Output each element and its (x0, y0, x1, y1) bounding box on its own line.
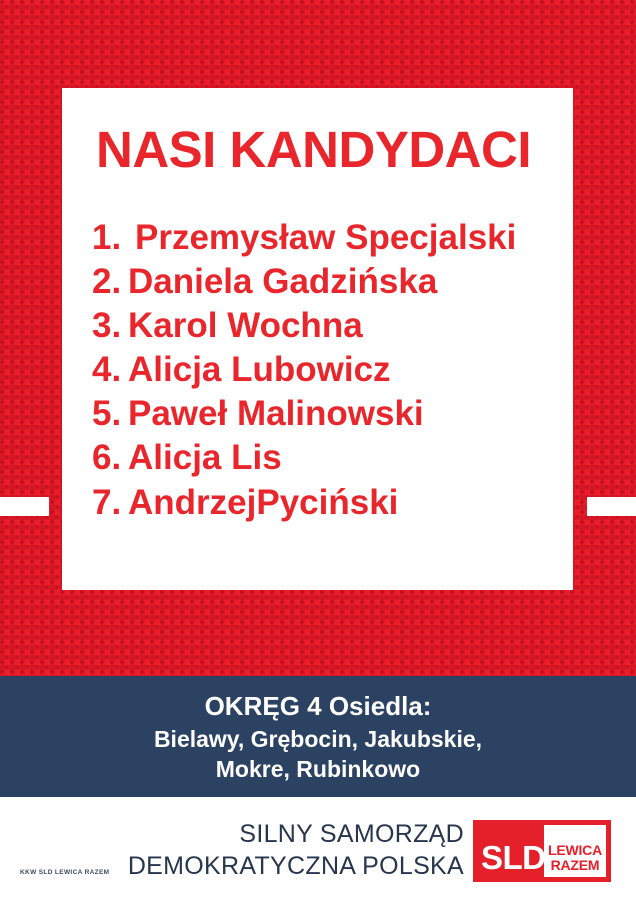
list-item: 6. Alicja Lis (92, 436, 559, 480)
list-item: 1. Przemysław Specjalski (92, 216, 559, 260)
left-white-tab (0, 497, 49, 516)
candidate-number: 2. (92, 260, 128, 304)
list-item: Mokre, Rubinkowo (0, 754, 636, 784)
campaign-slogan: SILNY SAMORZĄD DEMOKRATYCZNA POLSKA (128, 818, 464, 882)
page-title: NASI KANDYDACI (96, 124, 531, 175)
list-item: 4. Alicja Lubowicz (92, 348, 559, 392)
candidates-card: NASI KANDYDACI 1. Przemysław Specjalski … (62, 88, 573, 590)
campaign-poster: NASI KANDYDACI 1. Przemysław Specjalski … (0, 0, 636, 900)
candidate-name: Alicja Lubowicz (128, 348, 391, 392)
lewica-label: LEWICA (548, 843, 602, 858)
list-item: 5. Paweł Malinowski (92, 392, 559, 436)
sld-wordmark: SLD (473, 829, 546, 874)
candidate-number: 6. (92, 436, 128, 480)
candidate-name: Alicja Lis (128, 436, 282, 480)
list-item: 3. Karol Wochna (92, 304, 559, 348)
candidate-name: Paweł Malinowski (128, 392, 424, 436)
candidate-list: 1. Przemysław Specjalski 2. Daniela Gadz… (92, 216, 559, 525)
district-banner: OKRĘG 4 Osiedla: Bielawy, Grębocin, Jaku… (0, 676, 636, 797)
district-heading: OKRĘG 4 Osiedla: (0, 690, 636, 724)
candidate-number: 5. (92, 392, 128, 436)
candidate-number: 1. (92, 216, 135, 260)
district-neighbourhood-list: Bielawy, Grębocin, Jakubskie, Mokre, Rub… (0, 724, 636, 785)
razem-label: RAZEM (551, 858, 600, 873)
candidate-number: 3. (92, 304, 128, 348)
list-item: Bielawy, Grębocin, Jakubskie, (0, 724, 636, 754)
candidate-name: Karol Wochna (128, 304, 363, 348)
committee-disclaimer: KKW SLD LEWICA RAZEM (20, 869, 109, 876)
lewica-razem-box: LEWICA RAZEM (544, 825, 606, 877)
candidate-name: Przemysław Specjalski (135, 216, 516, 260)
candidate-name: AndrzejРуciński (128, 481, 398, 525)
list-item: 7. AndrzejРуciński (92, 481, 559, 525)
slogan-line-1: SILNY SAMORZĄD (128, 818, 464, 850)
slogan-line-2: DEMOKRATYCZNA POLSKA (128, 850, 464, 882)
right-white-tab (587, 497, 636, 516)
sld-lewica-razem-logo: SLD LEWICA RAZEM (473, 820, 611, 882)
list-item: 2. Daniela Gadzińska (92, 260, 559, 304)
candidate-name: Daniela Gadzińska (128, 260, 437, 304)
candidate-number: 4. (92, 348, 128, 392)
candidate-number: 7. (92, 481, 128, 525)
